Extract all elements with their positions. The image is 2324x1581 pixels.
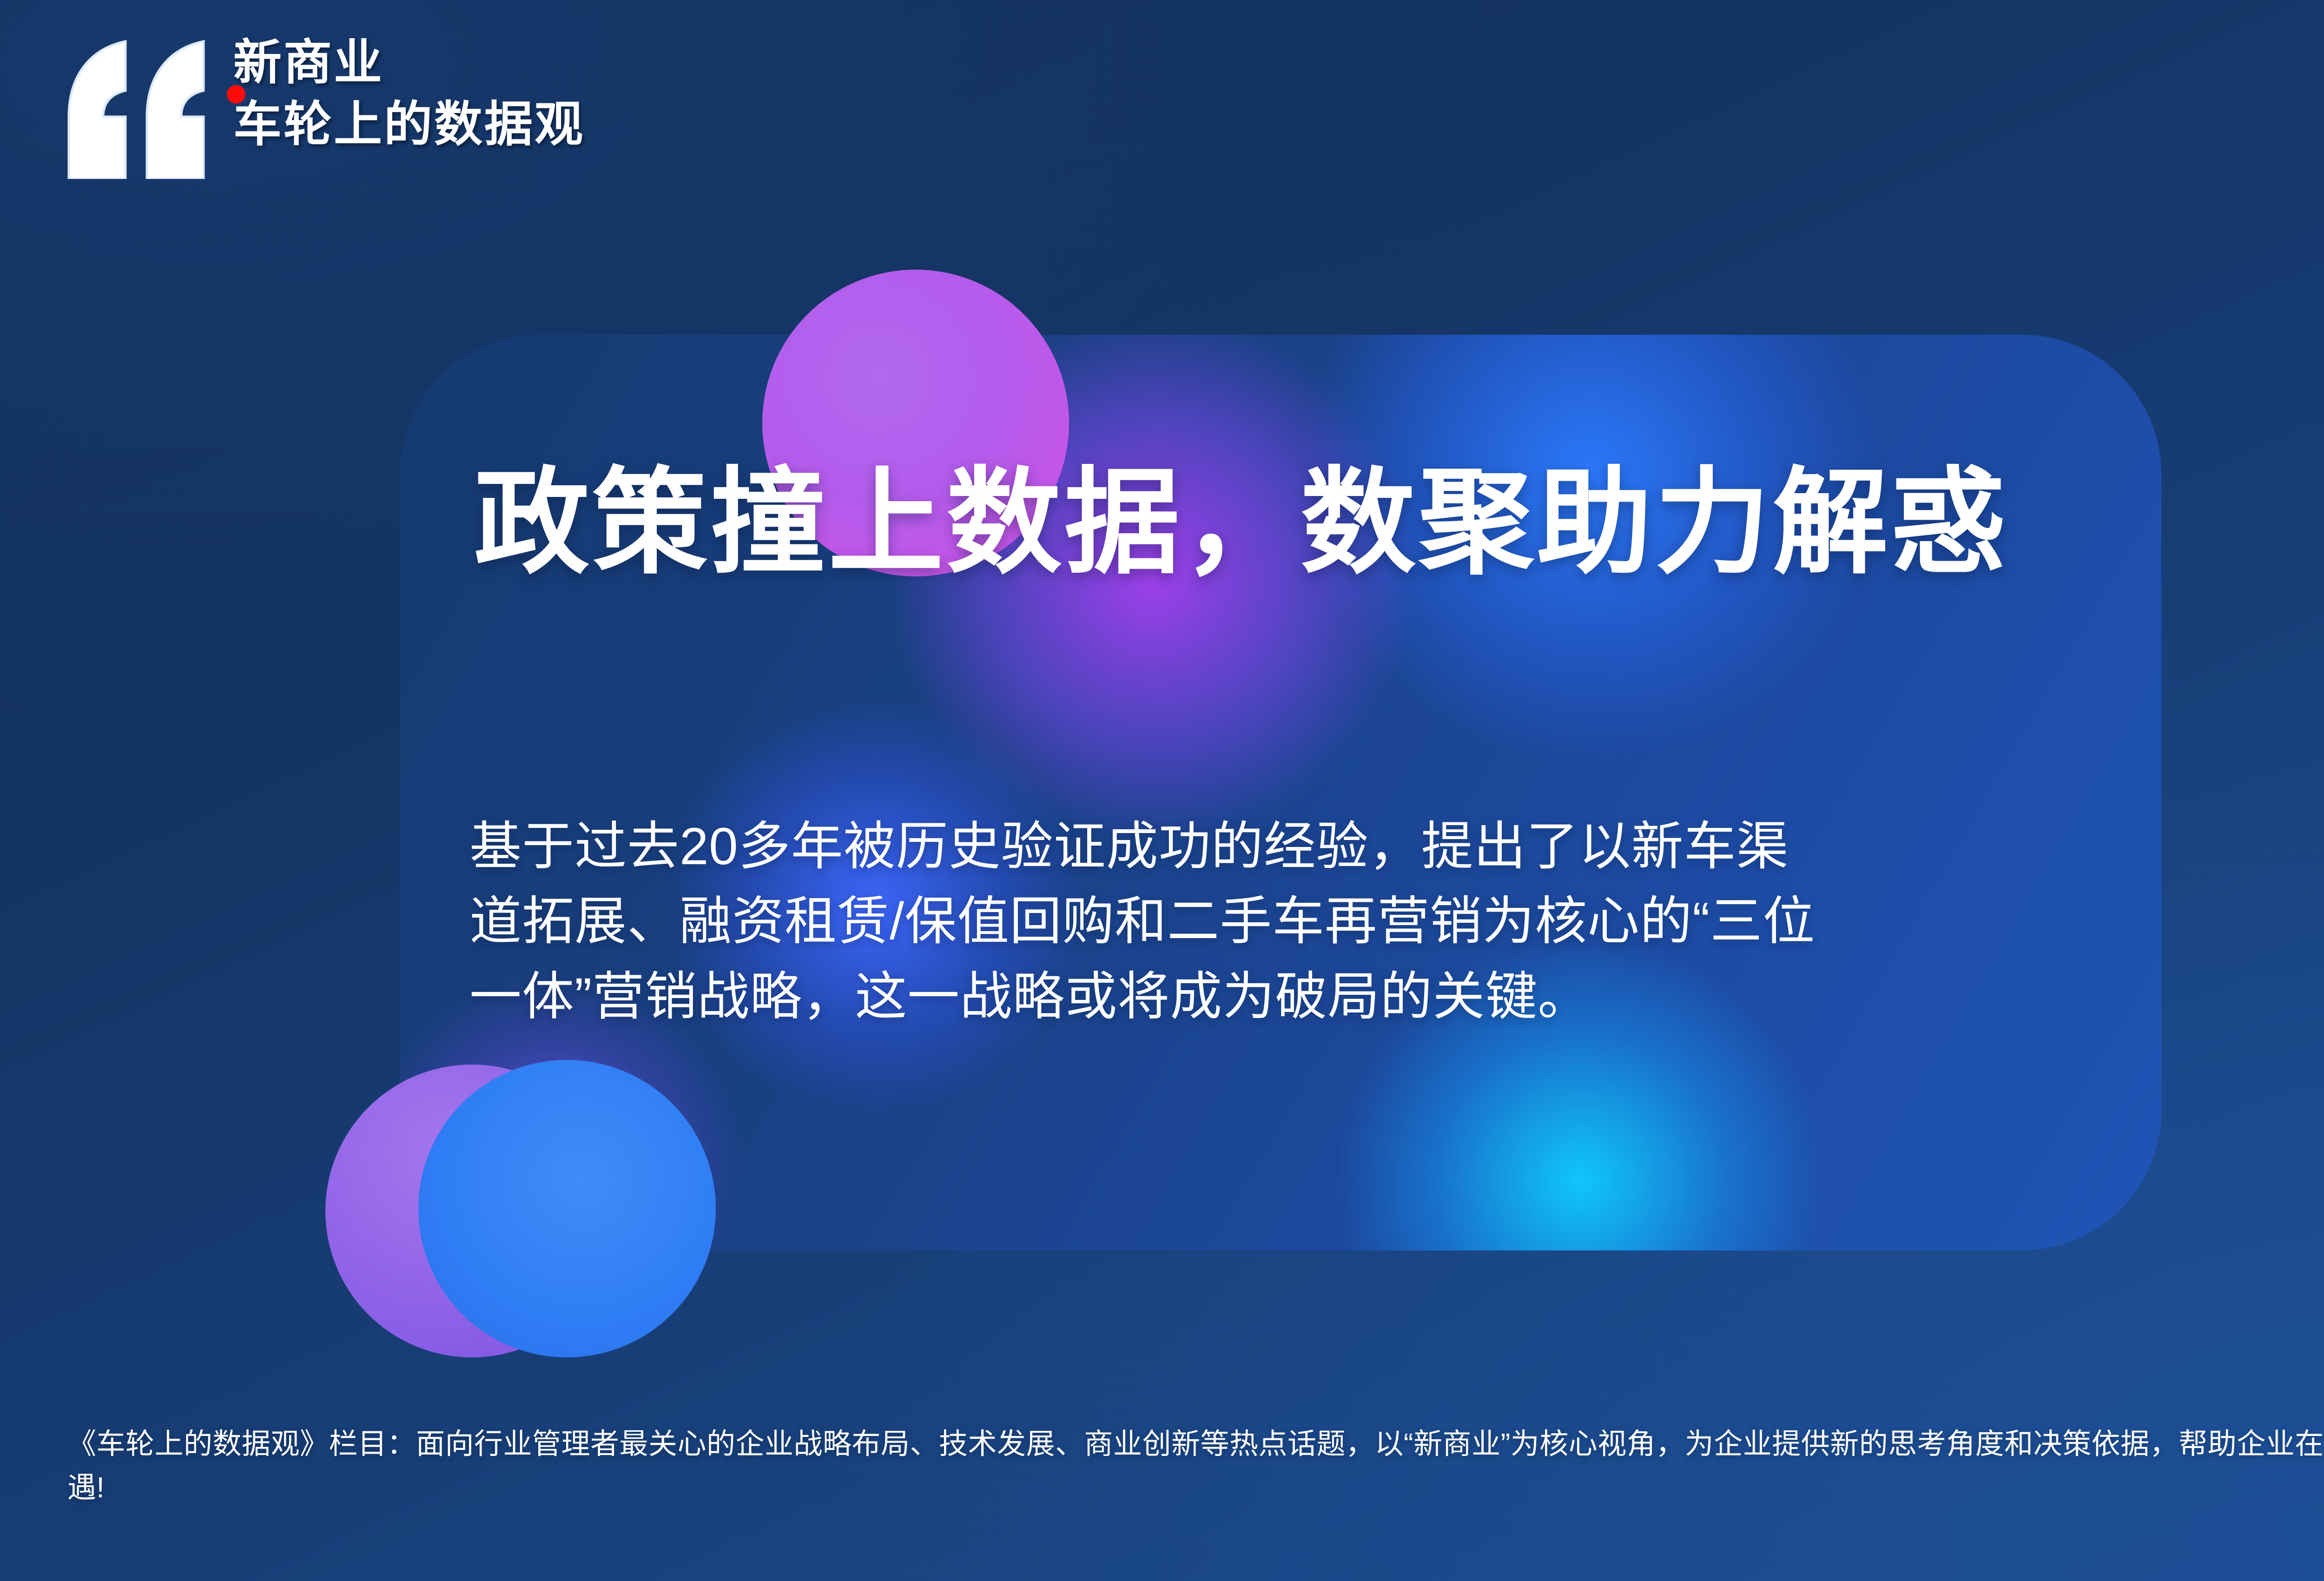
footer-description: 《车轮上的数据观》栏目：面向行业管理者最关心的企业战略布局、技术发展、商业创新等… [67,1422,2324,1510]
brand-line-secondary: 车轮上的数据观 [233,94,585,156]
slide-canvas: 新商业 车轮上的数据观 政策撞上数据，数聚助力解惑 基于过去20多年被历史验证成… [0,0,2324,1581]
double-quote-icon [60,26,214,179]
cyan-circle-icon [418,1060,716,1357]
accent-dot-icon [227,85,245,104]
page-title: 政策撞上数据，数聚助力解惑 [474,465,2009,580]
brand-text-block: 新商业 车轮上的数据观 [233,26,585,156]
brand-lockup: 新商业 车轮上的数据观 [60,26,585,179]
brand-line-primary: 新商业 [233,32,585,94]
card-body-text: 基于过去20多年被历史验证成功的经验，提出了以新车渠道拓展、融资租赁/保值回购和… [469,809,1831,1034]
